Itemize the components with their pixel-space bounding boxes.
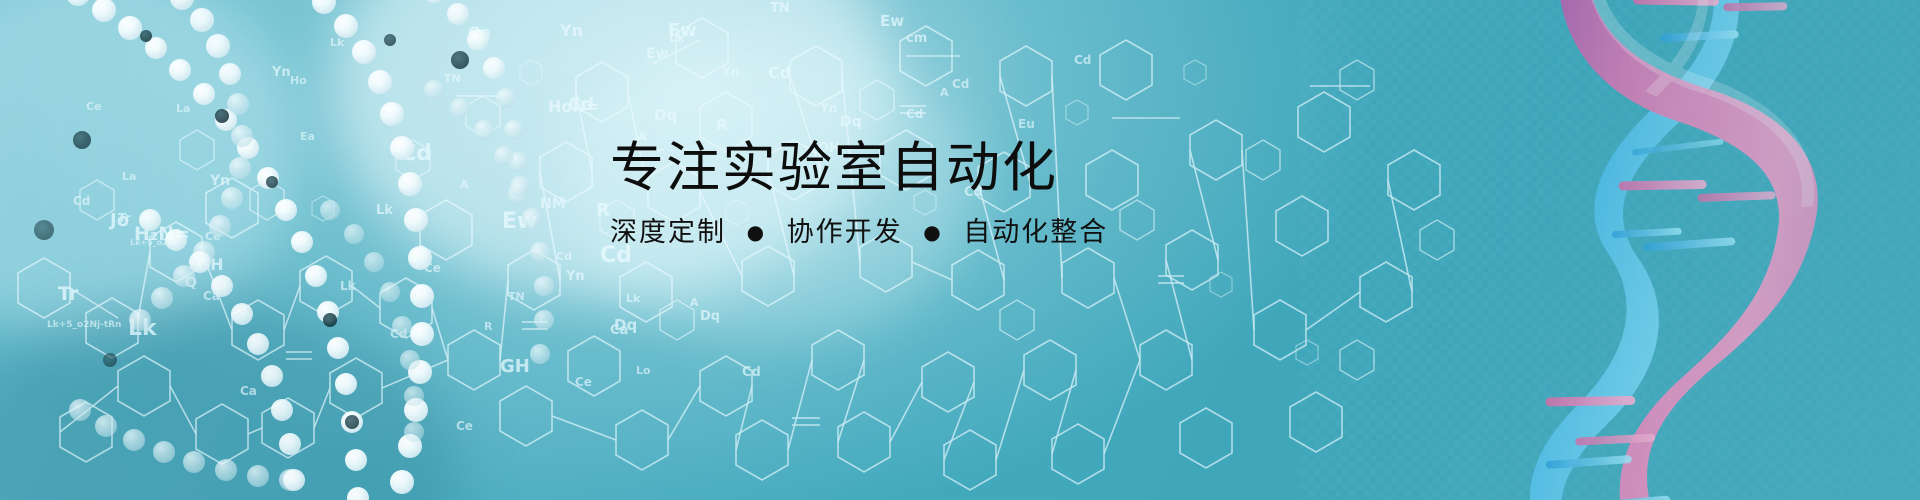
svg-text:Eu: Eu [1018, 117, 1035, 131]
svg-text:Ew: Ew [880, 12, 904, 30]
svg-text:Dq: Dq [614, 316, 637, 334]
svg-text:NM: NM [540, 196, 566, 212]
svg-text:Dq: Dq [840, 114, 862, 130]
pearl-dna-helix-secondary [120, 190, 680, 500]
svg-text:La: La [176, 102, 190, 115]
svg-text:Lk: Lk [128, 316, 158, 341]
svg-text:Yn: Yn [271, 65, 291, 80]
svg-text:TN: TN [508, 290, 525, 303]
svg-text:Ca: Ca [203, 289, 220, 303]
svg-text:Lk+5_o2Nj-tRn: Lk+5_o2Nj-tRn [47, 320, 121, 330]
checker-texture [1300, 0, 1920, 500]
svg-text:HoN=: HoN= [548, 97, 599, 116]
banner-title: 专注实验室自动化 [610, 140, 1310, 196]
svg-text:Ew: Ew [502, 209, 537, 234]
svg-text:Cd: Cd [742, 365, 761, 380]
svg-text:Ce: Ce [424, 261, 441, 275]
svg-text:Cd: Cd [952, 77, 969, 91]
svg-text:Q: Q [185, 275, 197, 291]
svg-text:Lk: Lk [340, 279, 357, 293]
svg-text:H₂N=: H₂N= [134, 223, 190, 245]
subtitle-separator-2: ● [913, 220, 952, 244]
subtitle-separator-1: ● [737, 220, 776, 244]
svg-text:Cd: Cd [73, 194, 90, 208]
svg-text:Ca: Ca [610, 323, 628, 338]
svg-text:Ce: Ce [456, 419, 473, 433]
svg-text:Ce: Ce [468, 23, 491, 42]
svg-text:Lk+5_o2Nj: Lk+5_o2Nj [130, 238, 177, 247]
svg-text:Lo: Lo [636, 364, 651, 377]
svg-text:Tr: Tr [58, 283, 79, 305]
svg-text:Ho: Ho [290, 74, 307, 87]
svg-text:Ce: Ce [86, 100, 102, 113]
svg-text:A: A [690, 296, 699, 309]
svg-text:Yn: Yn [565, 269, 585, 284]
laboratory-automation-banner: Tr Jo Tr Lk Lk+5_o2Nj-tRn Lk+5_o2Nj H₂N=… [0, 0, 1920, 500]
svg-text:Ce: Ce [575, 375, 592, 389]
pearl-dna-helix [0, 0, 720, 500]
svg-text:GH: GH [197, 255, 224, 274]
svg-text:Yn: Yn [559, 21, 583, 40]
subtitle-item-2: 协作开发 [787, 217, 903, 248]
svg-text:Cd: Cd [906, 107, 923, 121]
chemical-structure-overlay: Tr Jo Tr Lk Lk+5_o2Nj-tRn Lk+5_o2Nj H₂N=… [0, 0, 1920, 500]
svg-text:Yn: Yn [819, 101, 837, 115]
svg-text:Yn: Yn [209, 173, 230, 189]
svg-text:GH: GH [500, 356, 530, 377]
svg-text:A: A [460, 178, 469, 191]
background-glow-layer [0, 0, 1920, 500]
svg-text:Cd: Cd [556, 250, 572, 263]
svg-text:Lk: Lk [376, 203, 393, 218]
dna-double-helix [1460, 0, 1920, 500]
svg-text:Ca: Ca [240, 384, 257, 398]
banner-subtitle: 深度定制 ● 协作开发 ● 自动化整合 [610, 218, 1310, 248]
svg-text:Lk: Lk [626, 292, 641, 305]
shadow-blob-bottomleft [0, 300, 460, 500]
subtitle-item-1: 深度定制 [610, 217, 726, 248]
svg-text:La: La [122, 170, 136, 183]
svg-text:Cd: Cd [1074, 53, 1091, 67]
svg-text:Cd: Cd [400, 141, 432, 166]
subtitle-item-3: 自动化整合 [963, 217, 1108, 248]
svg-text:TN: TN [770, 1, 790, 16]
svg-text:TN: TN [444, 72, 461, 85]
svg-text:Lk: Lk [330, 36, 345, 49]
right-vignette [0, 0, 1920, 500]
svg-text:Ew: Ew [668, 20, 697, 41]
svg-text:Cd: Cd [768, 63, 791, 82]
svg-text:Dq: Dq [654, 106, 677, 124]
svg-text:Cd: Cd [390, 327, 407, 341]
svg-text:R: R [596, 200, 610, 221]
svg-text:Dq: Dq [700, 309, 720, 324]
svg-text:R: R [716, 116, 728, 134]
svg-text:R: R [484, 320, 493, 333]
svg-text:Ew: Ew [646, 46, 669, 62]
glow-blob-left [0, 0, 300, 340]
svg-text:cm: cm [906, 31, 927, 46]
svg-text:Cd: Cd [568, 94, 594, 115]
svg-text:A: A [940, 86, 949, 99]
svg-text:Lk: Lk [669, 31, 686, 45]
banner-text-block: 专注实验室自动化 深度定制 ● 协作开发 ● 自动化整合 [610, 140, 1310, 248]
svg-text:Jo: Jo [108, 210, 129, 231]
svg-text:Ce: Ce [205, 230, 221, 243]
svg-text:Ea: Ea [300, 130, 315, 143]
svg-text:Tr: Tr [118, 211, 131, 225]
svg-text:Yn: Yn [721, 65, 739, 79]
